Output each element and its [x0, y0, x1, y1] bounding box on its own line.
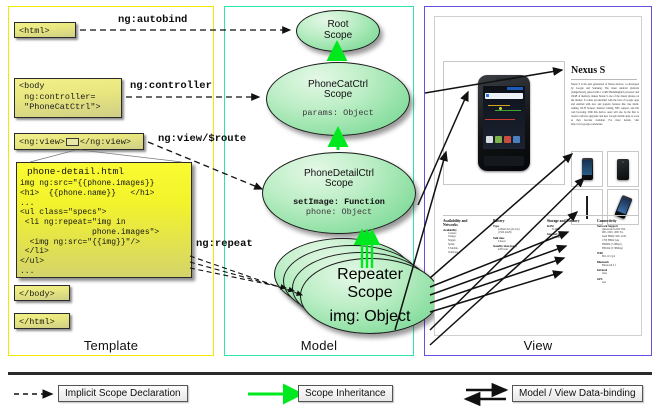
- label-ng-controller: ng:controller: [130, 80, 212, 92]
- product-title: Nexus S: [571, 65, 605, 76]
- specs-value-3-0-5: HSUPA (5.76Mbps): [602, 247, 641, 251]
- specs-value-1-0-1: (1500 mAH): [498, 231, 539, 235]
- scope-phonedetailctrl: PhoneDetailCtrl Scope setImage: Function…: [262, 152, 416, 234]
- thumbnail-back[interactable]: [607, 151, 639, 187]
- specs-heading-0: Availability and Networks: [443, 219, 483, 227]
- scope-root-name-line2: Scope: [324, 31, 352, 42]
- scope-repeater: Repeater Scope img: Object: [300, 258, 440, 334]
- specs-table: Availability and Networks Availability C…: [443, 219, 639, 325]
- diagram-canvas: Template Model View <html> <body ng:cont…: [0, 0, 660, 420]
- scope-phonecatctrl-prop-params: params: Object: [302, 108, 373, 118]
- scope-repeater-prop-img: img: Object: [330, 308, 411, 326]
- note-code-body: img ng:src="{{phone.images}} <h1> {{phon…: [17, 179, 191, 277]
- scope-phonedetailctrl-prop-phone: phone: Object: [306, 207, 372, 217]
- thumbnail-front[interactable]: [571, 151, 603, 187]
- label-ng-repeat: ng:repeat: [196, 238, 253, 250]
- legend-item-implicit-scope-declaration: Implicit Scope Declaration: [58, 385, 188, 402]
- specs-value-0-0-5: Vodafone: [448, 251, 483, 255]
- specs-group-storage: Storage and Memory RAM 512MB Internal St…: [547, 219, 591, 240]
- thumb-back-icon: [617, 159, 629, 180]
- specs-value-1-2-0: 428 hours: [498, 248, 539, 252]
- hero-image-frame: [443, 61, 565, 185]
- scope-root: Root Scope: [296, 10, 380, 52]
- nexus-s-hero-image: [478, 75, 530, 171]
- label-ng-view-route: ng:view/$route: [158, 133, 246, 145]
- legend-divider: [8, 372, 652, 375]
- ngview-open-label: <ng:view>: [19, 137, 65, 147]
- rendered-view-page: Nexus S Nexus S is the next generation o…: [434, 16, 642, 336]
- specs-value-2-1-0: 16384MB: [552, 236, 591, 240]
- column-label-view: View: [425, 338, 651, 353]
- scope-phonedetailctrl-name-line2: Scope: [325, 179, 353, 190]
- specs-value-3-2-0: Bluetooth 2.1: [602, 264, 641, 268]
- body-close-tag: </body>: [14, 285, 70, 301]
- ngview-close-label: </ng:view>: [80, 137, 131, 147]
- column-label-template: Template: [9, 338, 213, 353]
- specs-value-1-1-0: 6 hours: [498, 240, 539, 244]
- specs-group-battery: Battery Type Lithium Ion (Li-Ion) (1500 …: [493, 219, 539, 252]
- specs-heading-1: Battery: [493, 219, 539, 223]
- column-label-model: Model: [225, 338, 413, 353]
- scope-phonedetailctrl-prop-setimage: setImage: Function: [293, 197, 385, 207]
- legend-item-model-view-data-binding: Model / View Data-binding: [512, 385, 643, 402]
- html-open-tag: <html>: [14, 22, 76, 38]
- specs-value-2-0-0: 512MB: [552, 228, 591, 232]
- scope-repeater-name-line1: Repeater: [337, 266, 403, 284]
- scope-phonecatctrl: PhoneCatCtrl Scope params: Object: [266, 62, 410, 136]
- html-close-tag: </html>: [14, 313, 70, 329]
- specs-heading-3: Connectivity: [597, 219, 641, 223]
- specs-value-3-3-0: false: [602, 272, 641, 276]
- product-description: Nexus S is the next generation of Nexus …: [571, 83, 639, 127]
- specs-divider: [443, 215, 639, 216]
- body-open-tag: <body ng:controller= "PhoneCatCtrl">: [14, 78, 122, 118]
- specs-group-availability: Availability and Networks Availability C…: [443, 219, 483, 255]
- thumb-front-icon: [582, 158, 593, 180]
- ngview-tag: <ng:view></ng:view>: [14, 133, 144, 150]
- ngview-placeholder-icon: [66, 138, 79, 146]
- label-ng-autobind: ng:autobind: [118, 14, 187, 26]
- scope-phonecatctrl-name-line2: Scope: [324, 90, 352, 101]
- title-divider: [571, 79, 637, 80]
- phone-screen: [483, 86, 526, 149]
- specs-value-3-1-0: 802.11 b/g/n: [602, 255, 641, 259]
- phone-detail-template-note: phone-detail.html img ng:src="{{phone.im…: [16, 162, 192, 278]
- scope-repeater-name-line2: Scope: [347, 284, 392, 302]
- specs-group-connectivity: Connectivity Network Support Quad-band G…: [597, 219, 641, 284]
- legend-item-scope-inheritance: Scope Inheritance: [298, 385, 393, 402]
- note-filename: phone-detail.html: [17, 163, 191, 179]
- specs-heading-2: Storage and Memory: [547, 219, 591, 223]
- specs-value-3-4-0: true: [602, 281, 641, 285]
